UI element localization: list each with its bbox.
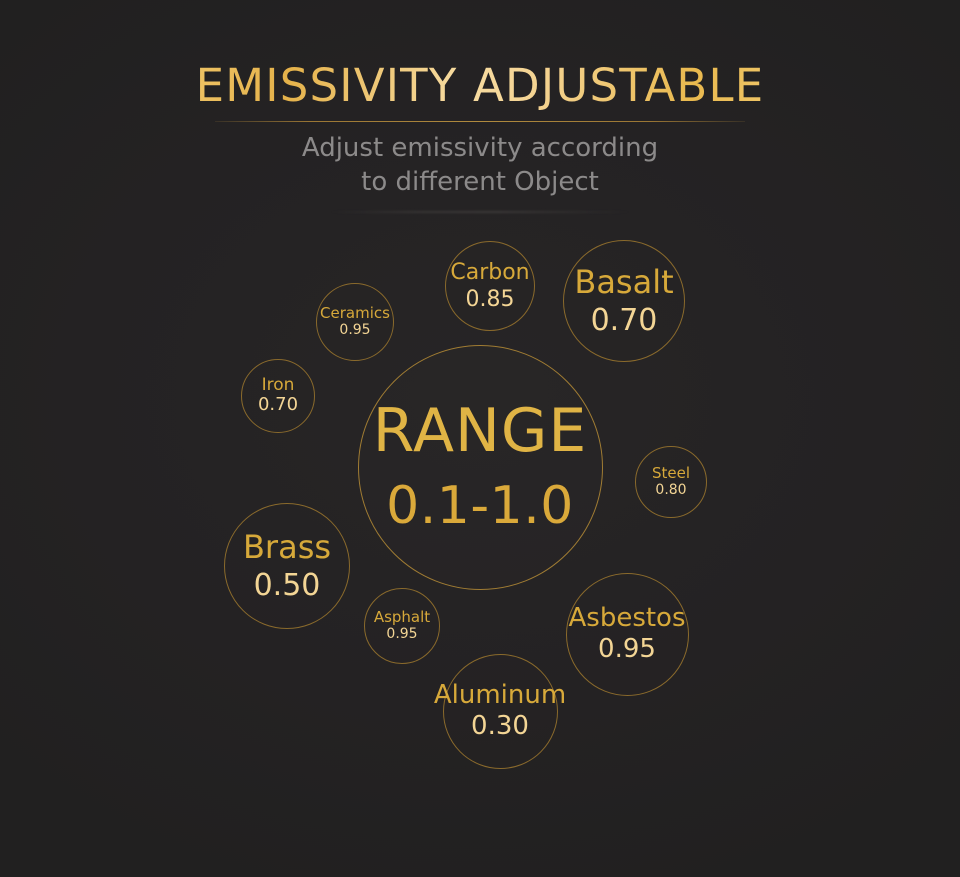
emissivity-value: 0.30 — [471, 713, 529, 740]
emissivity-value: 0.85 — [466, 288, 515, 311]
range-bubble[interactable]: RANGE0.1-1.0 — [358, 345, 603, 590]
material-bubble-aluminum[interactable]: Aluminum0.30 — [443, 654, 558, 769]
range-bubble-value: 0.1-1.0 — [386, 479, 574, 534]
material-bubble-asphalt[interactable]: Asphalt0.95 — [364, 588, 440, 664]
material-name: Asphalt — [374, 610, 430, 626]
emissivity-value: 0.80 — [655, 483, 686, 498]
material-name: Basalt — [574, 266, 673, 300]
material-name: Iron — [262, 377, 295, 395]
material-bubble-steel[interactable]: Steel0.80 — [635, 446, 707, 518]
range-bubble-label: RANGE — [373, 400, 588, 463]
bubble-chart: RANGE0.1-1.0Ceramics0.95Carbon0.85Basalt… — [0, 0, 960, 877]
emissivity-value: 0.70 — [258, 396, 298, 415]
emissivity-value: 0.95 — [386, 627, 417, 642]
material-bubble-iron[interactable]: Iron0.70 — [241, 359, 315, 433]
emissivity-value: 0.70 — [591, 305, 658, 337]
emissivity-value: 0.50 — [254, 570, 321, 602]
infographic-canvas: EMISSIVITY ADJUSTABLE Adjust emissivity … — [0, 0, 960, 877]
material-bubble-ceramics[interactable]: Ceramics0.95 — [316, 283, 394, 361]
material-bubble-carbon[interactable]: Carbon0.85 — [445, 241, 535, 331]
material-name: Asbestos — [568, 605, 685, 632]
material-bubble-basalt[interactable]: Basalt0.70 — [563, 240, 685, 362]
material-name: Carbon — [450, 261, 529, 284]
material-bubble-asbestos[interactable]: Asbestos0.95 — [566, 573, 689, 696]
material-name: Ceramics — [320, 306, 390, 322]
emissivity-value: 0.95 — [598, 636, 656, 663]
material-name: Brass — [243, 531, 331, 565]
material-name: Aluminum — [434, 682, 566, 709]
material-bubble-brass[interactable]: Brass0.50 — [224, 503, 350, 629]
emissivity-value: 0.95 — [339, 323, 370, 338]
material-name: Steel — [652, 466, 690, 482]
